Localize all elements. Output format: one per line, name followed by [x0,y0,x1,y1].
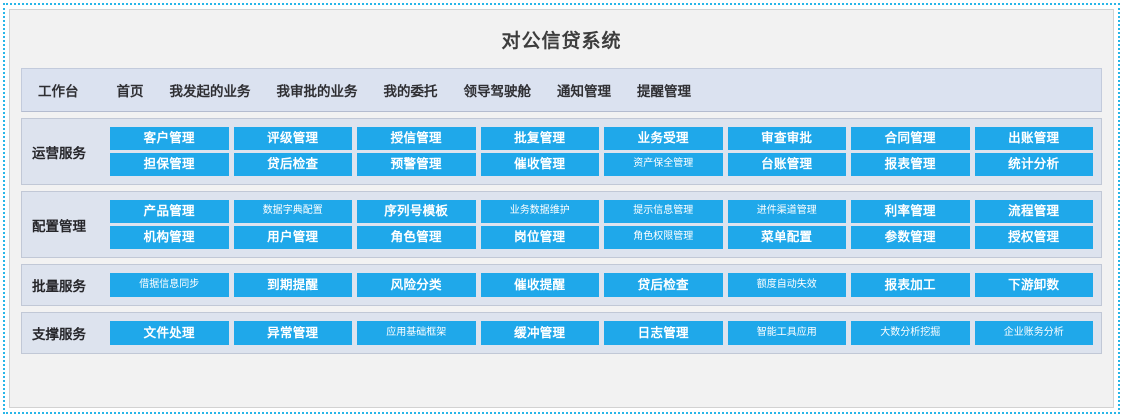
module-tile[interactable]: 评级管理 [234,127,353,150]
tile-column: 评级管理贷后检查 [234,127,353,176]
module-tile[interactable]: 预警管理 [357,153,476,176]
tile-column: 智能工具应用 [728,321,847,345]
tile-column: 日志管理 [604,321,723,345]
module-tile[interactable]: 合同管理 [851,127,970,150]
module-tile[interactable]: 业务受理 [604,127,723,150]
tile-column: 贷后检查 [604,273,723,297]
module-tile[interactable]: 担保管理 [110,153,229,176]
module-tile[interactable]: 角色权限管理 [604,226,723,249]
module-tile[interactable]: 客户管理 [110,127,229,150]
tile-column: 提示信息管理角色权限管理 [604,200,723,249]
module-section: 运营服务客户管理担保管理评级管理贷后检查授信管理预警管理批复管理催收管理业务受理… [21,118,1102,185]
tile-column: 出账管理统计分析 [975,127,1094,176]
tile-column: 产品管理机构管理 [110,200,229,249]
module-tile[interactable]: 提示信息管理 [604,200,723,223]
section-label: 配置管理 [32,215,110,235]
tile-column: 合同管理报表管理 [851,127,970,176]
module-tile[interactable]: 流程管理 [975,200,1094,223]
tile-column: 序列号模板角色管理 [357,200,476,249]
module-tile[interactable]: 角色管理 [357,226,476,249]
tile-column: 应用基础框架 [357,321,476,345]
tile-column: 流程管理授权管理 [975,200,1094,249]
tile-column: 业务数据维护岗位管理 [481,200,600,249]
module-tile[interactable]: 催收提醒 [481,273,600,297]
module-tile[interactable]: 异常管理 [234,321,353,345]
module-tile[interactable]: 产品管理 [110,200,229,223]
module-tile[interactable]: 序列号模板 [357,200,476,223]
module-tile[interactable]: 授权管理 [975,226,1094,249]
module-tile[interactable]: 下游卸数 [975,273,1094,297]
module-tile[interactable]: 统计分析 [975,153,1094,176]
tile-column: 下游卸数 [975,273,1094,297]
tile-column: 客户管理担保管理 [110,127,229,176]
tile-column: 额度自动失效 [728,273,847,297]
nav-item[interactable]: 领导驾驶舱 [464,80,532,100]
tile-column: 授信管理预警管理 [357,127,476,176]
module-tile[interactable]: 数据字典配置 [234,200,353,223]
app-window: 对公信贷系统 工作台首页我发起的业务我审批的业务我的委托领导驾驶舱通知管理提醒管… [9,9,1114,408]
module-section: 批量服务借据信息同步到期提醒风险分类催收提醒贷后检查额度自动失效报表加工下游卸数 [21,264,1102,306]
tile-column: 文件处理 [110,321,229,345]
tile-column: 利率管理参数管理 [851,200,970,249]
module-tile[interactable]: 到期提醒 [234,273,353,297]
tile-column: 企业账务分析 [975,321,1094,345]
module-tile[interactable]: 台账管理 [728,153,847,176]
module-tile[interactable]: 额度自动失效 [728,273,847,297]
module-tile[interactable]: 智能工具应用 [728,321,847,345]
tile-column: 报表加工 [851,273,970,297]
module-tile[interactable]: 授信管理 [357,127,476,150]
module-tile[interactable]: 缓冲管理 [481,321,600,345]
module-tile[interactable]: 报表加工 [851,273,970,297]
section-label: 批量服务 [32,275,110,295]
page-title: 对公信贷系统 [501,26,621,53]
tile-column: 审查审批台账管理 [728,127,847,176]
nav-item[interactable]: 我的委托 [384,80,438,100]
tile-groups: 产品管理机构管理数据字典配置用户管理序列号模板角色管理业务数据维护岗位管理提示信… [110,200,1093,249]
module-tile[interactable]: 大数分析挖掘 [851,321,970,345]
tile-column: 催收提醒 [481,273,600,297]
module-tile[interactable]: 岗位管理 [481,226,600,249]
module-tile[interactable]: 资产保全管理 [604,153,723,176]
module-tile[interactable]: 贷后检查 [234,153,353,176]
nav-item[interactable]: 我发起的业务 [170,80,251,100]
tile-groups: 借据信息同步到期提醒风险分类催收提醒贷后检查额度自动失效报表加工下游卸数 [110,273,1093,297]
module-tile[interactable]: 借据信息同步 [110,273,229,297]
module-tile[interactable]: 企业账务分析 [975,321,1094,345]
module-sections: 运营服务客户管理担保管理评级管理贷后检查授信管理预警管理批复管理催收管理业务受理… [21,118,1102,402]
module-tile[interactable]: 审查审批 [728,127,847,150]
module-tile[interactable]: 日志管理 [604,321,723,345]
screenshot-root: 对公信贷系统 工作台首页我发起的业务我审批的业务我的委托领导驾驶舱通知管理提醒管… [0,0,1123,417]
module-tile[interactable]: 文件处理 [110,321,229,345]
module-tile[interactable]: 业务数据维护 [481,200,600,223]
module-tile[interactable]: 报表管理 [851,153,970,176]
nav-item[interactable]: 首页 [117,80,144,100]
tile-column: 借据信息同步 [110,273,229,297]
module-tile[interactable]: 利率管理 [851,200,970,223]
tile-column: 批复管理催收管理 [481,127,600,176]
module-tile[interactable]: 菜单配置 [728,226,847,249]
module-tile[interactable]: 机构管理 [110,226,229,249]
module-tile[interactable]: 风险分类 [357,273,476,297]
nav-item[interactable]: 提醒管理 [637,80,691,100]
tile-column: 到期提醒 [234,273,353,297]
module-tile[interactable]: 贷后检查 [604,273,723,297]
tile-column: 风险分类 [357,273,476,297]
module-tile[interactable]: 出账管理 [975,127,1094,150]
section-label: 支撑服务 [32,323,110,343]
module-section: 支撑服务文件处理异常管理应用基础框架缓冲管理日志管理智能工具应用大数分析挖掘企业… [21,312,1102,354]
tile-column: 异常管理 [234,321,353,345]
tile-column: 业务受理资产保全管理 [604,127,723,176]
tile-column: 数据字典配置用户管理 [234,200,353,249]
nav-item[interactable]: 工作台 [38,80,79,100]
section-label: 运营服务 [32,142,110,162]
tile-column: 大数分析挖掘 [851,321,970,345]
tile-column: 缓冲管理 [481,321,600,345]
main-navigation[interactable]: 工作台首页我发起的业务我审批的业务我的委托领导驾驶舱通知管理提醒管理 [21,68,1102,112]
tile-column: 进件渠道管理菜单配置 [728,200,847,249]
module-section: 配置管理产品管理机构管理数据字典配置用户管理序列号模板角色管理业务数据维护岗位管… [21,191,1102,258]
module-tile[interactable]: 进件渠道管理 [728,200,847,223]
nav-item[interactable]: 我审批的业务 [277,80,358,100]
title-bar: 对公信贷系统 [15,10,1108,68]
tile-groups: 文件处理异常管理应用基础框架缓冲管理日志管理智能工具应用大数分析挖掘企业账务分析 [110,321,1093,345]
module-tile[interactable]: 催收管理 [481,153,600,176]
module-tile[interactable]: 用户管理 [234,226,353,249]
module-tile[interactable]: 批复管理 [481,127,600,150]
module-tile[interactable]: 参数管理 [851,226,970,249]
tile-groups: 客户管理担保管理评级管理贷后检查授信管理预警管理批复管理催收管理业务受理资产保全… [110,127,1093,176]
module-tile[interactable]: 应用基础框架 [357,321,476,345]
nav-item[interactable]: 通知管理 [557,80,611,100]
